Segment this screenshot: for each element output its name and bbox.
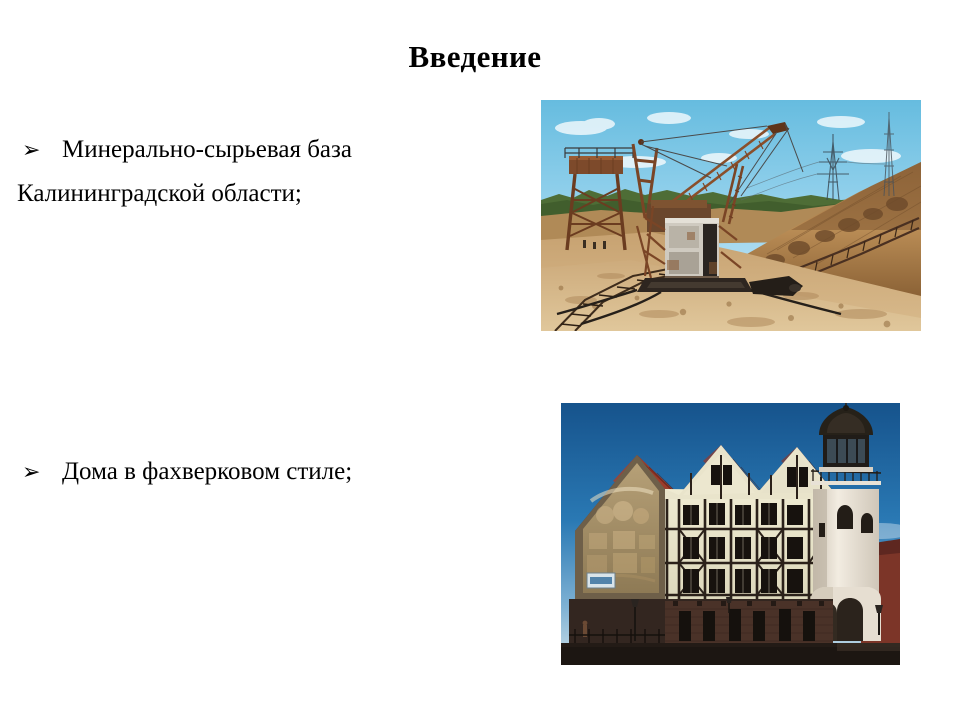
list-item: ➢ Дома в фахверковом стиле; [16,450,536,494]
bullet-1-line-1: Минерально-сырьевая база [62,128,352,171]
bullet-block-1: ➢ Минерально-сырьевая база Калининградск… [16,128,516,215]
bullet-1-line-2: Калининградской области; [16,172,516,215]
quarry-dragline-illustration [541,100,921,331]
bullet-2-line-1: Дома в фахверковом стиле; [62,450,352,493]
slide-canvas: Введение ➢ Минерально-сырьевая база Кали… [0,0,960,720]
arrowhead-bullet-icon: ➢ [16,129,62,172]
fachwerk-houses-illustration [561,403,900,665]
arrowhead-bullet-icon: ➢ [16,451,62,494]
bullet-block-2: ➢ Дома в фахверковом стиле; [16,450,536,494]
fachwerk-houses-photo [561,403,900,665]
list-item: ➢ Минерально-сырьевая база [16,128,516,172]
page-title: Введение [0,38,950,76]
quarry-dragline-photo [541,100,921,331]
